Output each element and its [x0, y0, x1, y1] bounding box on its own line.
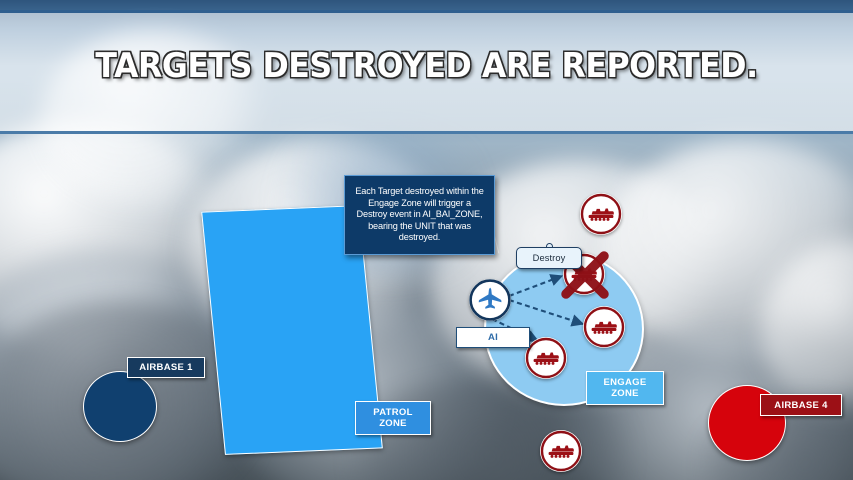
engage-zone-label[interactable]: ENGAGE ZONE: [586, 371, 664, 405]
ground-target-icon: [525, 337, 567, 379]
destroy-event-label[interactable]: Destroy: [516, 247, 582, 269]
patrol-zone-label[interactable]: PATROL ZONE: [355, 401, 431, 435]
slide-canvas: TARGETS DESTROYED ARE REPORTED.: [0, 0, 853, 480]
fighter-jet-icon: [469, 279, 511, 321]
target-unit-outside-south[interactable]: [540, 430, 582, 472]
target-unit-right[interactable]: [583, 306, 625, 348]
airbase-1-label[interactable]: AIRBASE 1: [127, 357, 205, 378]
airbase-1-marker[interactable]: [83, 371, 157, 442]
target-unit-bottom[interactable]: [525, 337, 567, 379]
airbase-4-label[interactable]: AIRBASE 4: [760, 394, 842, 416]
ground-target-icon: [540, 430, 582, 472]
explanation-callout-text: Each Target destroyed within the Engage …: [350, 186, 488, 244]
ai-aircraft-unit[interactable]: [469, 279, 511, 321]
ai-unit-label[interactable]: AI: [456, 327, 530, 348]
page-title: TARGETS DESTROYED ARE REPORTED.: [30, 46, 823, 86]
ground-target-icon: [580, 193, 622, 235]
ground-target-icon: [583, 306, 625, 348]
target-unit-outside-north[interactable]: [580, 193, 622, 235]
explanation-callout: Each Target destroyed within the Engage …: [344, 175, 495, 255]
